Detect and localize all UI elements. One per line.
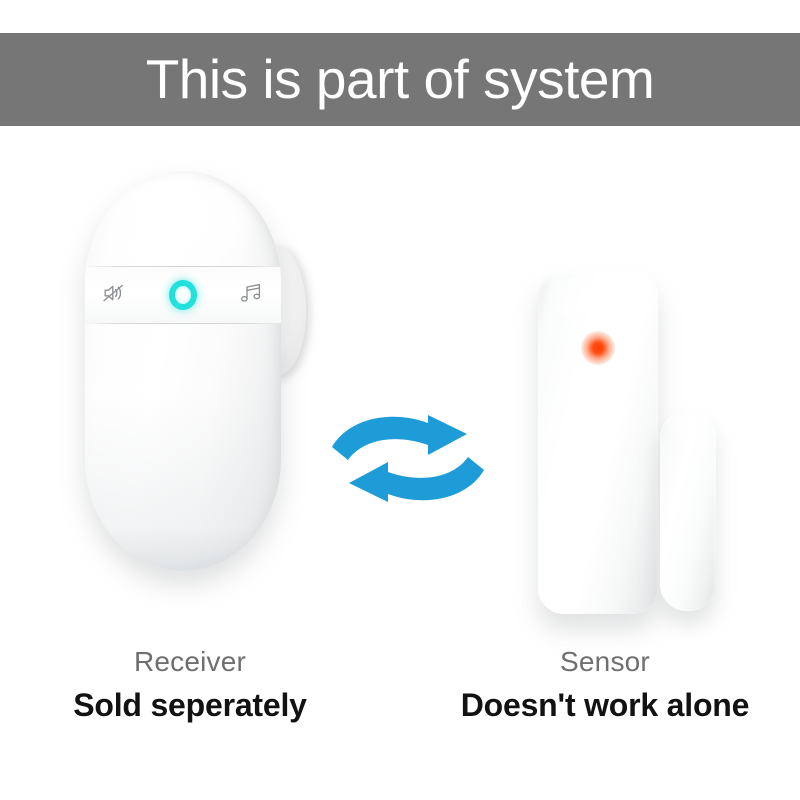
sensor-product-image bbox=[530, 271, 745, 616]
receiver-caption-note: Sold seperately bbox=[30, 685, 350, 727]
receiver-control-band bbox=[85, 267, 281, 323]
receiver-caption-name: Receiver bbox=[30, 644, 350, 679]
receiver-seam-line-bottom bbox=[85, 323, 281, 324]
receiver-body bbox=[85, 171, 281, 571]
sensor-body-highlight bbox=[550, 276, 634, 331]
led-ring-indicator-icon bbox=[169, 280, 197, 310]
product-stage: Receiver Sold seperately Sensor Doesn't … bbox=[0, 126, 800, 800]
sensor-main-body bbox=[538, 271, 658, 614]
sync-arrows-icon bbox=[328, 411, 488, 506]
sensor-caption-name: Sensor bbox=[440, 644, 770, 679]
volume-icon[interactable] bbox=[101, 280, 127, 311]
receiver-product-image bbox=[85, 171, 290, 571]
header-title: This is part of system bbox=[146, 52, 655, 107]
sensor-status-led-icon bbox=[581, 331, 615, 365]
sensor-caption-note: Doesn't work alone bbox=[440, 685, 770, 727]
header-banner: This is part of system bbox=[0, 33, 800, 126]
sensor-magnet-highlight bbox=[668, 415, 703, 439]
receiver-caption-block: Receiver Sold seperately bbox=[30, 644, 350, 727]
sensor-magnet-piece bbox=[660, 411, 716, 611]
sensor-caption-block: Sensor Doesn't work alone bbox=[440, 644, 770, 727]
receiver-bottom-shading bbox=[85, 395, 281, 571]
music-note-icon[interactable] bbox=[238, 280, 265, 311]
